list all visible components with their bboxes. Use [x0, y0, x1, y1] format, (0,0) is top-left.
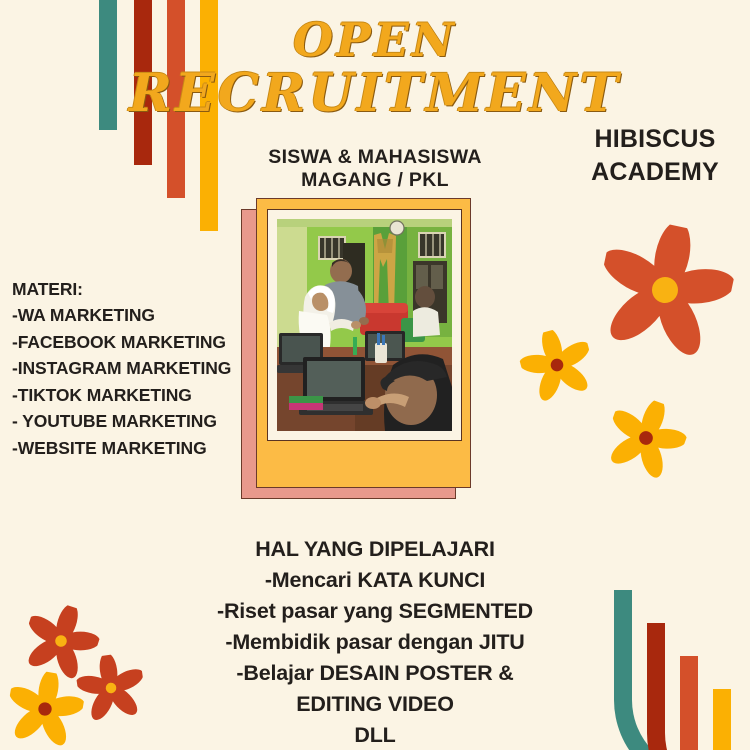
- arc-stripe-gold: [0, 0, 218, 231]
- materi-item: -TIKTOK MARKETING: [12, 382, 231, 408]
- brand-name-line-2: ACADEMY: [560, 156, 750, 189]
- learning-item: -Membidik pasar dengan JITU: [0, 627, 750, 658]
- flower-yellow-small-1: [514, 322, 600, 408]
- brand-name-line-1: HIBISCUS: [560, 123, 750, 156]
- learning-item: -Mencari KATA KUNCI: [0, 565, 750, 596]
- learning-item: -Riset pasar yang SEGMENTED: [0, 596, 750, 627]
- photo-mat: [267, 209, 462, 441]
- materi-item: -WA MARKETING: [12, 302, 231, 328]
- flower-icon: [514, 322, 600, 408]
- learning-item: DLL: [0, 720, 750, 750]
- flower-icon: [588, 213, 742, 367]
- flower-red-large: [588, 213, 742, 367]
- photo-image: [277, 219, 452, 431]
- flower-icon: [597, 389, 694, 486]
- materi-item: -WEBSITE MARKETING: [12, 435, 231, 461]
- photo-frame: [256, 198, 471, 488]
- materi-item: -FACEBOOK MARKETING: [12, 329, 231, 355]
- materi-heading: MATERI:: [12, 276, 231, 302]
- learning-points-list: HAL YANG DIPELAJARI -Mencari KATA KUNCI …: [0, 534, 750, 750]
- classroom-photo-illustration: [277, 219, 452, 431]
- learning-item: -Belajar DESAIN POSTER &: [0, 658, 750, 689]
- materi-item: - YOUTUBE MARKETING: [12, 408, 231, 434]
- learning-item: EDITING VIDEO: [0, 689, 750, 720]
- materi-item: -INSTAGRAM MARKETING: [12, 355, 231, 381]
- materi-list: MATERI: -WA MARKETING -FACEBOOK MARKETIN…: [12, 276, 231, 461]
- flower-yellow-small-2: [597, 389, 694, 486]
- learning-heading: HAL YANG DIPELAJARI: [0, 534, 750, 565]
- poster-canvas: OPEN RECRUITMENT SISWA & MAHASISWA MAGAN…: [0, 0, 750, 750]
